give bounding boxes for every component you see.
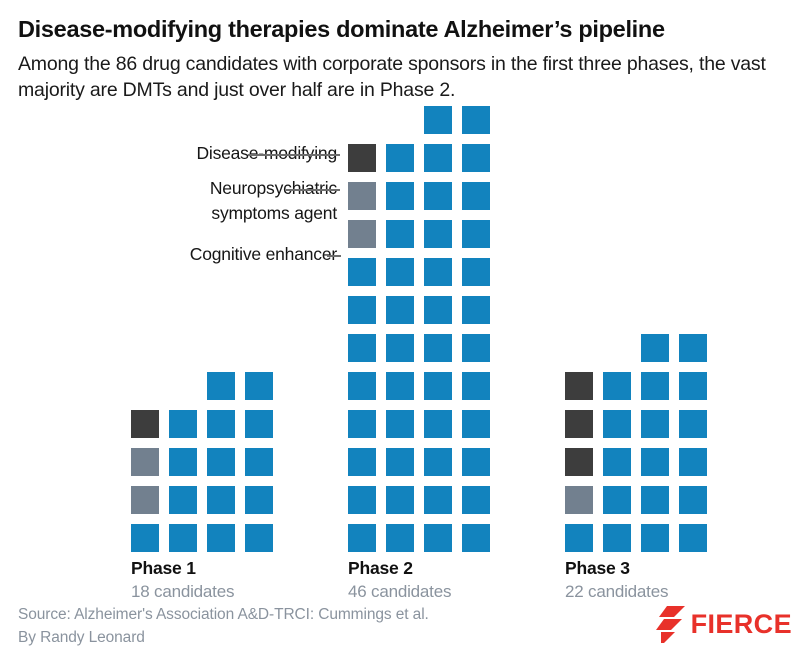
waffle-cell-blue bbox=[679, 372, 707, 400]
waffle-cell-blue bbox=[245, 410, 273, 438]
waffle-cell-blue bbox=[386, 486, 414, 514]
waffle-row bbox=[131, 448, 273, 476]
waffle-cell-blue bbox=[386, 182, 414, 210]
waffle-cell-blue bbox=[386, 524, 414, 552]
waffle-cell-blue bbox=[207, 486, 235, 514]
waffle-cell-blue bbox=[679, 448, 707, 476]
waffle-row bbox=[565, 372, 707, 400]
header: Disease-modifying therapies dominate Alz… bbox=[18, 14, 786, 103]
waffle-cell-blue bbox=[386, 144, 414, 172]
waffle-row bbox=[131, 486, 273, 514]
waffle-cell-blue bbox=[245, 448, 273, 476]
phase-name-2: Phase 2 bbox=[348, 558, 451, 579]
waffle-cell-blue bbox=[348, 334, 376, 362]
fierce-logo: FIERCE bbox=[656, 604, 792, 644]
waffle-cell-blue bbox=[348, 258, 376, 286]
waffle-cell-blue bbox=[462, 448, 490, 476]
waffle-cell-blue bbox=[348, 410, 376, 438]
waffle-row bbox=[565, 524, 707, 552]
waffle-cell-blue bbox=[386, 296, 414, 324]
waffle-cell-empty bbox=[386, 106, 414, 134]
waffle-cell-blue bbox=[207, 448, 235, 476]
leader-line-neuropsychiatric bbox=[286, 189, 340, 191]
waffle-cell-blue bbox=[424, 296, 452, 324]
waffle-cell-blue bbox=[386, 410, 414, 438]
waffle-cell-blue bbox=[207, 410, 235, 438]
waffle-cell-empty bbox=[603, 334, 631, 362]
waffle-cell-blue bbox=[641, 334, 669, 362]
waffle-cell-blue bbox=[348, 448, 376, 476]
waffle-cell-blue bbox=[603, 524, 631, 552]
waffle-cell-blue bbox=[603, 372, 631, 400]
waffle-row bbox=[348, 220, 490, 248]
waffle-cell-blue bbox=[386, 258, 414, 286]
waffle-cell-gray bbox=[565, 486, 593, 514]
waffle-cell-blue bbox=[462, 296, 490, 324]
leader-line-cognitive-enhancer bbox=[327, 255, 341, 257]
waffle-row bbox=[348, 182, 490, 210]
waffle-cell-blue bbox=[169, 410, 197, 438]
waffle-cell-blue bbox=[424, 410, 452, 438]
waffle-cell-blue bbox=[603, 448, 631, 476]
waffle-cell-blue bbox=[679, 486, 707, 514]
waffle-cell-blue bbox=[679, 410, 707, 438]
waffle-grid-phase-1 bbox=[131, 372, 273, 552]
waffle-cell-blue bbox=[424, 524, 452, 552]
waffle-cell-blue bbox=[386, 220, 414, 248]
waffle-cell-empty bbox=[169, 372, 197, 400]
waffle-cell-blue bbox=[386, 448, 414, 476]
waffle-cell-blue bbox=[424, 144, 452, 172]
waffle-cell-gray bbox=[131, 448, 159, 476]
waffle-cell-blue bbox=[169, 486, 197, 514]
phase-count-2: 46 candidates bbox=[348, 581, 451, 602]
waffle-cell-blue bbox=[462, 258, 490, 286]
waffle-cell-blue bbox=[424, 372, 452, 400]
waffle-cell-blue bbox=[424, 106, 452, 134]
waffle-cell-blue bbox=[386, 372, 414, 400]
phase-caption-2: Phase 2 46 candidates bbox=[348, 558, 451, 602]
legend-label-neuropsychiatric-line2: symptoms agent bbox=[211, 201, 337, 226]
waffle-cell-blue bbox=[131, 524, 159, 552]
waffle-cell-blue bbox=[245, 372, 273, 400]
waffle-row bbox=[565, 410, 707, 438]
waffle-cell-gray bbox=[348, 182, 376, 210]
waffle-cell-blue bbox=[462, 220, 490, 248]
waffle-row bbox=[131, 524, 273, 552]
fierce-bolt-icon bbox=[656, 604, 686, 644]
waffle-cell-dark bbox=[565, 448, 593, 476]
waffle-cell-blue bbox=[641, 372, 669, 400]
waffle-cell-blue bbox=[424, 258, 452, 286]
waffle-cell-blue bbox=[679, 334, 707, 362]
chart-title: Disease-modifying therapies dominate Alz… bbox=[18, 14, 786, 44]
infographic-root: Disease-modifying therapies dominate Alz… bbox=[0, 0, 800, 665]
waffle-cell-blue bbox=[169, 448, 197, 476]
waffle-cell-blue bbox=[565, 524, 593, 552]
waffle-row bbox=[565, 334, 707, 362]
waffle-cell-blue bbox=[462, 486, 490, 514]
waffle-row bbox=[348, 144, 490, 172]
waffle-cell-blue bbox=[641, 486, 669, 514]
waffle-cell-dark bbox=[565, 372, 593, 400]
waffle-row bbox=[348, 106, 490, 134]
waffle-cell-gray bbox=[348, 220, 376, 248]
chart-subtitle: Among the 86 drug candidates with corpor… bbox=[18, 51, 782, 103]
waffle-row bbox=[348, 448, 490, 476]
waffle-cell-dark bbox=[348, 144, 376, 172]
waffle-row bbox=[348, 296, 490, 324]
waffle-grid-phase-3 bbox=[565, 334, 707, 552]
waffle-cell-blue bbox=[603, 486, 631, 514]
waffle-grid-phase-2 bbox=[348, 106, 490, 552]
waffle-row bbox=[131, 410, 273, 438]
waffle-cell-blue bbox=[462, 144, 490, 172]
waffle-cell-blue bbox=[603, 410, 631, 438]
waffle-cell-blue bbox=[169, 524, 197, 552]
waffle-cell-blue bbox=[462, 524, 490, 552]
waffle-cell-blue bbox=[424, 220, 452, 248]
phase-name-3: Phase 3 bbox=[565, 558, 668, 579]
fierce-wordmark: FIERCE bbox=[691, 609, 792, 639]
waffle-cell-blue bbox=[207, 372, 235, 400]
waffle-cell-blue bbox=[424, 182, 452, 210]
waffle-row bbox=[131, 372, 273, 400]
waffle-cell-blue bbox=[679, 524, 707, 552]
waffle-row bbox=[348, 524, 490, 552]
waffle-row bbox=[348, 410, 490, 438]
waffle-row bbox=[348, 372, 490, 400]
phase-count-1: 18 candidates bbox=[131, 581, 234, 602]
waffle-cell-blue bbox=[641, 410, 669, 438]
waffle-cell-blue bbox=[424, 486, 452, 514]
waffle-cell-blue bbox=[462, 106, 490, 134]
waffle-cell-blue bbox=[641, 448, 669, 476]
waffle-cell-dark bbox=[131, 410, 159, 438]
waffle-cell-blue bbox=[386, 334, 414, 362]
waffle-cell-blue bbox=[245, 486, 273, 514]
waffle-cell-blue bbox=[462, 410, 490, 438]
waffle-cell-blue bbox=[348, 296, 376, 324]
phase-caption-1: Phase 1 18 candidates bbox=[131, 558, 234, 602]
waffle-cell-blue bbox=[462, 182, 490, 210]
waffle-cell-gray bbox=[131, 486, 159, 514]
waffle-cell-empty bbox=[565, 334, 593, 362]
waffle-cell-blue bbox=[245, 524, 273, 552]
legend-label-cognitive-enhancer: Cognitive enhancer bbox=[190, 242, 337, 267]
waffle-cell-blue bbox=[424, 334, 452, 362]
waffle-cell-dark bbox=[565, 410, 593, 438]
waffle-row bbox=[565, 448, 707, 476]
waffle-row bbox=[348, 334, 490, 362]
leader-line-disease-modifying bbox=[248, 154, 340, 156]
waffle-cell-blue bbox=[207, 524, 235, 552]
waffle-cell-empty bbox=[131, 372, 159, 400]
waffle-cell-blue bbox=[424, 448, 452, 476]
waffle-cell-empty bbox=[348, 106, 376, 134]
phase-caption-3: Phase 3 22 candidates bbox=[565, 558, 668, 602]
waffle-cell-blue bbox=[462, 334, 490, 362]
waffle-cell-blue bbox=[641, 524, 669, 552]
waffle-cell-blue bbox=[348, 486, 376, 514]
waffle-row bbox=[348, 258, 490, 286]
phase-count-3: 22 candidates bbox=[565, 581, 668, 602]
waffle-chart-area: Disease-modifying Neuropsychiatric sympt… bbox=[0, 132, 800, 552]
waffle-cell-blue bbox=[462, 372, 490, 400]
waffle-row bbox=[565, 486, 707, 514]
waffle-cell-blue bbox=[348, 372, 376, 400]
phase-name-1: Phase 1 bbox=[131, 558, 234, 579]
waffle-row bbox=[348, 486, 490, 514]
waffle-cell-blue bbox=[348, 524, 376, 552]
